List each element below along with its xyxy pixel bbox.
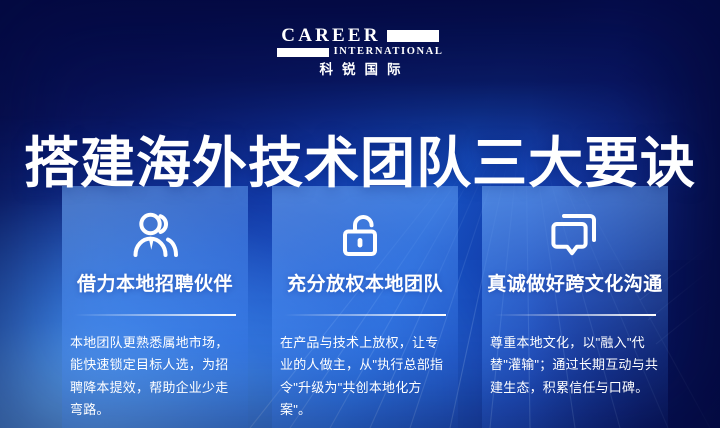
page-title: 搭建海外技术团队三大要诀 xyxy=(0,133,720,195)
feature-card-title: 借力本地招聘伙伴 xyxy=(77,274,233,297)
chat-bubbles-icon xyxy=(548,208,602,262)
feature-card-1: 借力本地招聘伙伴 本地团队更熟悉属地市场，能快速锁定目标人选，为招聘降本提效，帮… xyxy=(62,186,248,428)
feature-card-title: 真诚做好跨文化沟通 xyxy=(487,274,663,297)
logo-bar-left-icon xyxy=(277,48,329,57)
logo-career-text: CAREER xyxy=(281,26,380,45)
feature-card-divider xyxy=(494,314,656,316)
poster-canvas: CAREER INTERNATIONAL 科锐国际 搭建海外技术团队三大要诀 借… xyxy=(0,0,720,428)
feature-card-3: 真诚做好跨文化沟通 尊重本地文化，以"融入"代替"灌输"；通过长期互动与共建生态… xyxy=(482,186,668,428)
feature-card-title: 充分放权本地团队 xyxy=(287,274,443,297)
feature-card-2: 充分放权本地团队 在产品与技术上放权，让专业的人做主，从"执行总部指令"升级为"… xyxy=(272,186,458,428)
logo-subwordmark-row: INTERNATIONAL xyxy=(277,47,444,58)
feature-card-body: 尊重本地文化，以"融入"代替"灌输"；通过长期互动与共建生态，积累信任与口碑。 xyxy=(490,332,660,399)
unlock-icon xyxy=(338,208,392,262)
feature-card-divider xyxy=(74,314,236,316)
brand-logo: CAREER INTERNATIONAL 科锐国际 xyxy=(0,26,720,76)
logo-wordmark-row: CAREER xyxy=(281,26,438,45)
feature-card-divider xyxy=(284,314,446,316)
users-icon xyxy=(128,208,182,262)
feature-card-body: 本地团队更熟悉属地市场，能快速锁定目标人选，为招聘降本提效，帮助企业少走弯路。 xyxy=(70,332,240,421)
logo-international-text: INTERNATIONAL xyxy=(334,47,444,58)
feature-card-list: 借力本地招聘伙伴 本地团队更熟悉属地市场，能快速锁定目标人选，为招聘降本提效，帮… xyxy=(62,186,668,428)
logo-bar-right-icon xyxy=(387,30,439,42)
logo-chinese-name: 科锐国际 xyxy=(311,63,410,77)
feature-card-body: 在产品与技术上放权，让专业的人做主，从"执行总部指令"升级为"共创本地化方案"。 xyxy=(280,332,450,421)
